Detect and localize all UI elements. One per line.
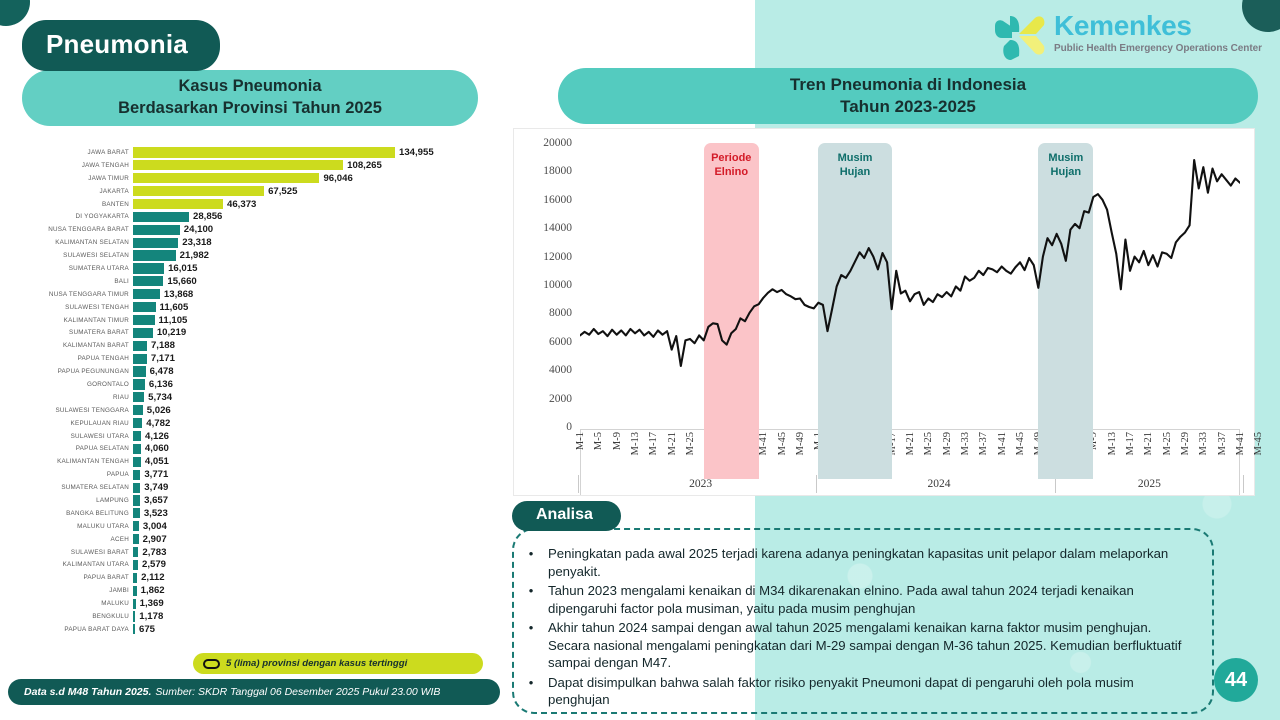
- x-axis: M-1M-5M-9M-13M-17M-21M-25M-29M-33M-37M-4…: [580, 429, 1240, 495]
- bar-value-label: 4,782: [146, 418, 170, 429]
- bar-value-label: 2,907: [143, 534, 167, 545]
- bar-fill: [133, 250, 176, 260]
- bar-fill: [133, 341, 147, 351]
- bar-row: SULAWESI TENGGARA5,026: [30, 404, 500, 417]
- bar-category-label: SULAWESI BARAT: [30, 549, 133, 556]
- bar-value-label: 4,126: [145, 431, 169, 442]
- bar-row: BANTEN46,373: [30, 198, 500, 211]
- bar-value-label: 6,478: [150, 366, 174, 377]
- bar-row: BENGKULU1,178: [30, 610, 500, 623]
- bar-category-label: SUMATERA SELATAN: [30, 484, 133, 491]
- bar-category-label: JAWA TENGAH: [30, 162, 133, 169]
- x-axis-tick: M-33: [960, 432, 971, 455]
- bar-value-label: 3,749: [144, 482, 168, 493]
- bar-row: KALIMANTAN TIMUR11,105: [30, 314, 500, 327]
- y-axis-tick: 14000: [543, 222, 572, 234]
- bar-track: 3,657: [133, 494, 500, 507]
- bar-row: JAMBI1,862: [30, 584, 500, 597]
- bar-row: NUSA TENGGARA TIMUR13,868: [30, 288, 500, 301]
- bar-track: 96,046: [133, 172, 500, 185]
- analisa-item: •Akhir tahun 2024 sampai dengan awal tah…: [528, 619, 1194, 672]
- bar-track: 16,015: [133, 262, 500, 275]
- bar-row: KALIMANTAN BARAT7,188: [30, 339, 500, 352]
- trend-line-series: [580, 160, 1240, 366]
- bar-track: 21,982: [133, 249, 500, 262]
- bar-fill: [133, 470, 140, 480]
- left-chart-title-line2: Berdasarkan Provinsi Tahun 2025: [118, 98, 382, 120]
- bar-category-label: LAMPUNG: [30, 497, 133, 504]
- x-axis-tick: M-25: [685, 432, 696, 455]
- analisa-box: •Peningkatan pada awal 2025 terjadi kare…: [512, 528, 1214, 714]
- x-axis-tick: M-21: [667, 432, 678, 455]
- bar-category-label: RIAU: [30, 394, 133, 401]
- bar-category-label: ACEH: [30, 536, 133, 543]
- bar-fill: [133, 173, 319, 183]
- bar-track: 4,782: [133, 417, 500, 430]
- bar-fill: [133, 315, 155, 325]
- bar-fill: [133, 495, 140, 505]
- bar-value-label: 11,605: [160, 302, 189, 313]
- analisa-list: •Peningkatan pada awal 2025 terjadi kare…: [528, 545, 1194, 709]
- x-axis-tick: M-1: [575, 432, 586, 450]
- bar-track: 675: [133, 623, 500, 636]
- x-axis-tick: M-25: [1162, 432, 1173, 455]
- logo-subtitle: Public Health Emergency Operations Cente…: [1054, 43, 1262, 54]
- bar-row: PAPUA BARAT2,112: [30, 571, 500, 584]
- bar-category-label: MALUKU UTARA: [30, 523, 133, 530]
- bar-fill: [133, 586, 137, 596]
- bar-row: PAPUA PEGUNUNGAN6,478: [30, 365, 500, 378]
- bar-value-label: 67,525: [268, 186, 297, 197]
- bar-row: SULAWESI UTARA4,126: [30, 430, 500, 443]
- bar-category-label: KALIMANTAN BARAT: [30, 342, 133, 349]
- x-axis-tick: M-17: [1125, 432, 1136, 455]
- kemenkes-logo-text: Kemenkes Public Health Emergency Operati…: [1054, 8, 1262, 54]
- bar-fill: [133, 560, 138, 570]
- y-axis-tick: 10000: [543, 279, 572, 291]
- y-axis: 0200040006000800010000120001400016000180…: [514, 129, 576, 431]
- bar-fill: [133, 573, 137, 583]
- x-axis-tick: M-41: [1235, 432, 1246, 455]
- bar-row: PAPUA3,771: [30, 468, 500, 481]
- bar-category-label: BANTEN: [30, 201, 133, 208]
- bar-track: 7,171: [133, 352, 500, 365]
- trend-line-chart: 0200040006000800010000120001400016000180…: [513, 128, 1255, 496]
- bar-track: 3,523: [133, 507, 500, 520]
- bar-fill: [133, 599, 136, 609]
- bar-value-label: 6,136: [149, 379, 173, 390]
- y-axis-tick: 20000: [543, 137, 572, 149]
- bar-category-label: NUSA TENGGARA BARAT: [30, 226, 133, 233]
- bar-fill: [133, 276, 163, 286]
- bar-track: 3,004: [133, 520, 500, 533]
- bar-value-label: 3,004: [143, 521, 167, 532]
- bar-fill: [133, 521, 139, 531]
- x-axis-tick: M-13: [1107, 432, 1118, 455]
- bar-row: MALUKU UTARA3,004: [30, 520, 500, 533]
- bar-value-label: 46,373: [227, 199, 256, 210]
- bar-row: BANGKA BELITUNG3,523: [30, 507, 500, 520]
- bar-fill: [133, 418, 142, 428]
- bar-value-label: 5,026: [147, 405, 171, 416]
- analisa-item-text: Tahun 2023 mengalami kenaikan di M34 dik…: [548, 582, 1194, 617]
- bar-value-label: 1,178: [139, 611, 163, 622]
- bar-row: PAPUA TENGAH7,171: [30, 352, 500, 365]
- bar-track: 2,579: [133, 559, 500, 572]
- x-axis-tick: M-45: [1015, 432, 1026, 455]
- bar-row: NUSA TENGGARA BARAT24,100: [30, 223, 500, 236]
- bar-category-label: JAWA BARAT: [30, 149, 133, 156]
- page-number-badge: 44: [1214, 658, 1258, 702]
- y-axis-tick: 8000: [549, 307, 572, 319]
- bar-fill: [133, 534, 139, 544]
- page-title: Pneumonia: [22, 20, 220, 71]
- bar-fill: [133, 508, 140, 518]
- bar-row: SULAWESI TENGAH11,605: [30, 301, 500, 314]
- bar-category-label: KALIMANTAN UTARA: [30, 561, 133, 568]
- x-axis-tick: M-37: [1217, 432, 1228, 455]
- x-axis-tick: M-29: [942, 432, 953, 455]
- y-axis-tick: 18000: [543, 165, 572, 177]
- bar-category-label: SULAWESI SELATAN: [30, 252, 133, 259]
- bar-track: 108,265: [133, 159, 500, 172]
- bar-track: 15,660: [133, 275, 500, 288]
- bar-category-label: JAKARTA: [30, 188, 133, 195]
- bar-fill: [133, 160, 343, 170]
- bar-fill: [133, 611, 135, 621]
- bar-row: KALIMANTAN SELATAN23,318: [30, 236, 500, 249]
- bar-value-label: 15,660: [167, 276, 196, 287]
- logo-title: Kemenkes: [1054, 12, 1262, 40]
- bar-category-label: BALI: [30, 278, 133, 285]
- bar-fill: [133, 483, 140, 493]
- kemenkes-mark-icon: [990, 8, 1048, 62]
- bar-fill: [133, 405, 143, 415]
- x-axis-tick: M-13: [630, 432, 641, 455]
- bar-value-label: 1,862: [141, 585, 165, 596]
- analisa-item-text: Dapat disimpulkan bahwa salah faktor ris…: [548, 674, 1194, 709]
- bar-category-label: PAPUA BARAT: [30, 574, 133, 581]
- right-chart-title-line2: Tahun 2023-2025: [840, 96, 976, 118]
- bar-category-label: BENGKULU: [30, 613, 133, 620]
- decorative-circle-top-left: [0, 0, 30, 26]
- bar-row: LAMPUNG3,657: [30, 494, 500, 507]
- bar-track: 134,955: [133, 146, 500, 159]
- bar-track: 4,051: [133, 455, 500, 468]
- bar-row: GORONTALO6,136: [30, 378, 500, 391]
- bar-track: 13,868: [133, 288, 500, 301]
- x-axis-tick: M-21: [905, 432, 916, 455]
- bar-row: JAWA TIMUR96,046: [30, 172, 500, 185]
- x-axis-tick: M-37: [978, 432, 989, 455]
- bar-track: 2,907: [133, 533, 500, 546]
- bar-fill: [133, 328, 153, 338]
- bar-category-label: SULAWESI TENGGARA: [30, 407, 133, 414]
- bar-value-label: 24,100: [184, 224, 213, 235]
- bar-row: RIAU5,734: [30, 391, 500, 404]
- bar-row: SULAWESI SELATAN21,982: [30, 249, 500, 262]
- left-chart-title-line1: Kasus Pneumonia: [178, 76, 321, 98]
- bar-value-label: 2,112: [141, 572, 164, 583]
- bar-value-label: 2,783: [142, 547, 166, 558]
- left-chart-title: Kasus Pneumonia Berdasarkan Provinsi Tah…: [22, 70, 478, 126]
- bar-row: JAWA TENGAH108,265: [30, 159, 500, 172]
- plot-area: PeriodeElninoMusimHujanMusimHujan: [580, 143, 1240, 427]
- bullet-icon: •: [528, 545, 534, 580]
- y-axis-tick: 16000: [543, 194, 572, 206]
- footer-bold-text: Data s.d M48 Tahun 2025.: [24, 686, 151, 698]
- bar-fill: [133, 379, 145, 389]
- bar-row: KALIMANTAN TENGAH4,051: [30, 455, 500, 468]
- bar-track: 6,136: [133, 378, 500, 391]
- bar-fill: [133, 225, 180, 235]
- analisa-item-text: Akhir tahun 2024 sampai dengan awal tahu…: [548, 619, 1194, 672]
- bar-row: DI YOGYAKARTA28,856: [30, 210, 500, 223]
- bar-value-label: 108,265: [347, 160, 382, 171]
- bar-fill: [133, 289, 160, 299]
- bar-track: 1,369: [133, 597, 500, 610]
- bar-track: 3,749: [133, 481, 500, 494]
- right-chart-title: Tren Pneumonia di Indonesia Tahun 2023-2…: [558, 68, 1258, 124]
- source-footer: Data s.d M48 Tahun 2025. Sumber: SKDR Ta…: [8, 679, 500, 705]
- bullet-icon: •: [528, 582, 534, 617]
- bar-fill: [133, 392, 144, 402]
- y-axis-tick: 2000: [549, 393, 572, 405]
- bar-track: 46,373: [133, 198, 500, 211]
- bar-category-label: PAPUA SELATAN: [30, 445, 133, 452]
- x-axis-tick: M-45: [777, 432, 788, 455]
- bar-value-label: 7,171: [151, 353, 175, 364]
- bar-value-label: 16,015: [168, 263, 197, 274]
- bar-fill: [133, 547, 138, 557]
- bar-track: 4,126: [133, 430, 500, 443]
- bar-track: 1,862: [133, 584, 500, 597]
- bar-category-label: SULAWESI TENGAH: [30, 304, 133, 311]
- bar-row: ACEH2,907: [30, 533, 500, 546]
- bar-fill: [133, 199, 223, 209]
- x-axis-tick: M-9: [612, 432, 623, 450]
- bar-value-label: 4,051: [145, 456, 169, 467]
- bullet-icon: •: [528, 619, 534, 672]
- bar-fill: [133, 366, 146, 376]
- bar-category-label: PAPUA BARAT DAYA: [30, 626, 133, 633]
- bar-category-label: SUMATERA UTARA: [30, 265, 133, 272]
- bar-row: PAPUA SELATAN4,060: [30, 442, 500, 455]
- bar-fill: [133, 186, 264, 196]
- bar-track: 67,525: [133, 185, 500, 198]
- x-axis-tick: M-41: [997, 432, 1008, 455]
- bar-track: 23,318: [133, 236, 500, 249]
- bar-track: 2,112: [133, 571, 500, 584]
- x-axis-tick: M-5: [593, 432, 604, 450]
- bar-category-label: KALIMANTAN SELATAN: [30, 239, 133, 246]
- bar-fill: [133, 457, 141, 467]
- y-axis-tick: 0: [566, 421, 572, 433]
- bar-category-label: JAWA TIMUR: [30, 175, 133, 182]
- bar-row: MALUKU1,369: [30, 597, 500, 610]
- analisa-item: •Dapat disimpulkan bahwa salah faktor ri…: [528, 674, 1194, 709]
- bar-category-label: BANGKA BELITUNG: [30, 510, 133, 517]
- bar-fill: [133, 238, 178, 248]
- analisa-item: •Tahun 2023 mengalami kenaikan di M34 di…: [528, 582, 1194, 617]
- x-axis-tick: M-33: [1198, 432, 1209, 455]
- y-axis-tick: 6000: [549, 336, 572, 348]
- bar-row: JAKARTA67,525: [30, 185, 500, 198]
- x-axis-tick: M-29: [1180, 432, 1191, 455]
- x-axis-tick: M-45: [1253, 432, 1264, 455]
- bar-row: SUMATERA UTARA16,015: [30, 262, 500, 275]
- bar-value-label: 10,219: [157, 327, 186, 338]
- bar-row: PAPUA BARAT DAYA675: [30, 623, 500, 636]
- bar-category-label: KALIMANTAN TIMUR: [30, 317, 133, 324]
- bar-category-label: MALUKU: [30, 600, 133, 607]
- bar-category-label: SUMATERA BARAT: [30, 329, 133, 336]
- bar-category-label: KEPULAUAN RIAU: [30, 420, 133, 427]
- bar-track: 2,783: [133, 546, 500, 559]
- bar-category-label: NUSA TENGGARA TIMUR: [30, 291, 133, 298]
- bar-value-label: 13,868: [164, 289, 193, 300]
- x-axis-tick: M-49: [795, 432, 806, 455]
- bar-fill: [133, 212, 189, 222]
- y-axis-tick: 12000: [543, 251, 572, 263]
- bar-fill: [133, 444, 141, 454]
- footer-source-text: Sumber: SKDR Tanggal 06 Desember 2025 Pu…: [155, 686, 440, 698]
- bar-track: 1,178: [133, 610, 500, 623]
- bar-value-label: 1,369: [140, 598, 164, 609]
- y-axis-tick: 4000: [549, 364, 572, 376]
- bar-value-label: 3,657: [144, 495, 168, 506]
- bar-category-label: GORONTALO: [30, 381, 133, 388]
- bar-track: 3,771: [133, 468, 500, 481]
- bar-value-label: 28,856: [193, 211, 222, 222]
- x-axis-tick: M-25: [923, 432, 934, 455]
- kemenkes-logo: Kemenkes Public Health Emergency Operati…: [990, 8, 1262, 62]
- bar-value-label: 21,982: [180, 250, 209, 261]
- bar-fill: [133, 354, 147, 364]
- x-axis-year-group: 2023: [578, 475, 822, 493]
- bar-category-label: PAPUA PEGUNUNGAN: [30, 368, 133, 375]
- bar-fill: [133, 147, 395, 157]
- bar-value-label: 134,955: [399, 147, 434, 158]
- bar-value-label: 5,734: [148, 392, 172, 403]
- analisa-item: •Peningkatan pada awal 2025 terjadi kare…: [528, 545, 1194, 580]
- bar-row: KEPULAUAN RIAU4,782: [30, 417, 500, 430]
- bar-track: 11,605: [133, 301, 500, 314]
- bar-track: 7,188: [133, 339, 500, 352]
- bar-fill: [133, 624, 135, 634]
- bar-category-label: PAPUA TENGAH: [30, 355, 133, 362]
- bar-row: SUMATERA BARAT10,219: [30, 326, 500, 339]
- legend-swatch-icon: [203, 659, 220, 669]
- bar-category-label: PAPUA: [30, 471, 133, 478]
- legend: 5 (lima) provinsi dengan kasus tertinggi: [193, 653, 483, 674]
- bar-row: KALIMANTAN UTARA2,579: [30, 559, 500, 572]
- bar-track: 10,219: [133, 326, 500, 339]
- bar-value-label: 96,046: [323, 173, 352, 184]
- x-axis-tick: M-17: [648, 432, 659, 455]
- bar-category-label: DI YOGYAKARTA: [30, 213, 133, 220]
- legend-label: 5 (lima) provinsi dengan kasus tertinggi: [226, 658, 407, 669]
- bar-value-label: 7,188: [151, 340, 175, 351]
- bar-category-label: SULAWESI UTARA: [30, 433, 133, 440]
- bar-track: 6,478: [133, 365, 500, 378]
- province-bar-chart: JAWA BARAT134,955JAWA TENGAH108,265JAWA …: [30, 146, 500, 643]
- analisa-item-text: Peningkatan pada awal 2025 terjadi karen…: [548, 545, 1194, 580]
- x-axis-tick: M-41: [758, 432, 769, 455]
- x-axis-tick: M-21: [1143, 432, 1154, 455]
- bar-value-label: 3,771: [144, 469, 168, 480]
- right-chart-title-line1: Tren Pneumonia di Indonesia: [790, 74, 1026, 96]
- bar-row: SULAWESI BARAT2,783: [30, 546, 500, 559]
- bar-value-label: 675: [139, 624, 155, 635]
- bar-track: 11,105: [133, 314, 500, 327]
- bar-track: 24,100: [133, 223, 500, 236]
- bar-value-label: 4,060: [145, 443, 169, 454]
- bar-track: 28,856: [133, 210, 500, 223]
- bar-category-label: KALIMANTAN TENGAH: [30, 458, 133, 465]
- bar-value-label: 11,105: [159, 315, 188, 326]
- bar-category-label: JAMBI: [30, 587, 133, 594]
- bar-track: 5,734: [133, 391, 500, 404]
- bullet-icon: •: [528, 674, 534, 709]
- bar-fill: [133, 263, 164, 273]
- bar-fill: [133, 431, 141, 441]
- analisa-heading: Analisa: [512, 501, 621, 531]
- bar-row: BALI15,660: [30, 275, 500, 288]
- bar-value-label: 3,523: [144, 508, 168, 519]
- bar-track: 5,026: [133, 404, 500, 417]
- bar-row: JAWA BARAT134,955: [30, 146, 500, 159]
- bar-row: SUMATERA SELATAN3,749: [30, 481, 500, 494]
- bar-track: 4,060: [133, 442, 500, 455]
- bar-value-label: 2,579: [142, 559, 166, 570]
- bar-value-label: 23,318: [182, 237, 211, 248]
- bar-fill: [133, 302, 156, 312]
